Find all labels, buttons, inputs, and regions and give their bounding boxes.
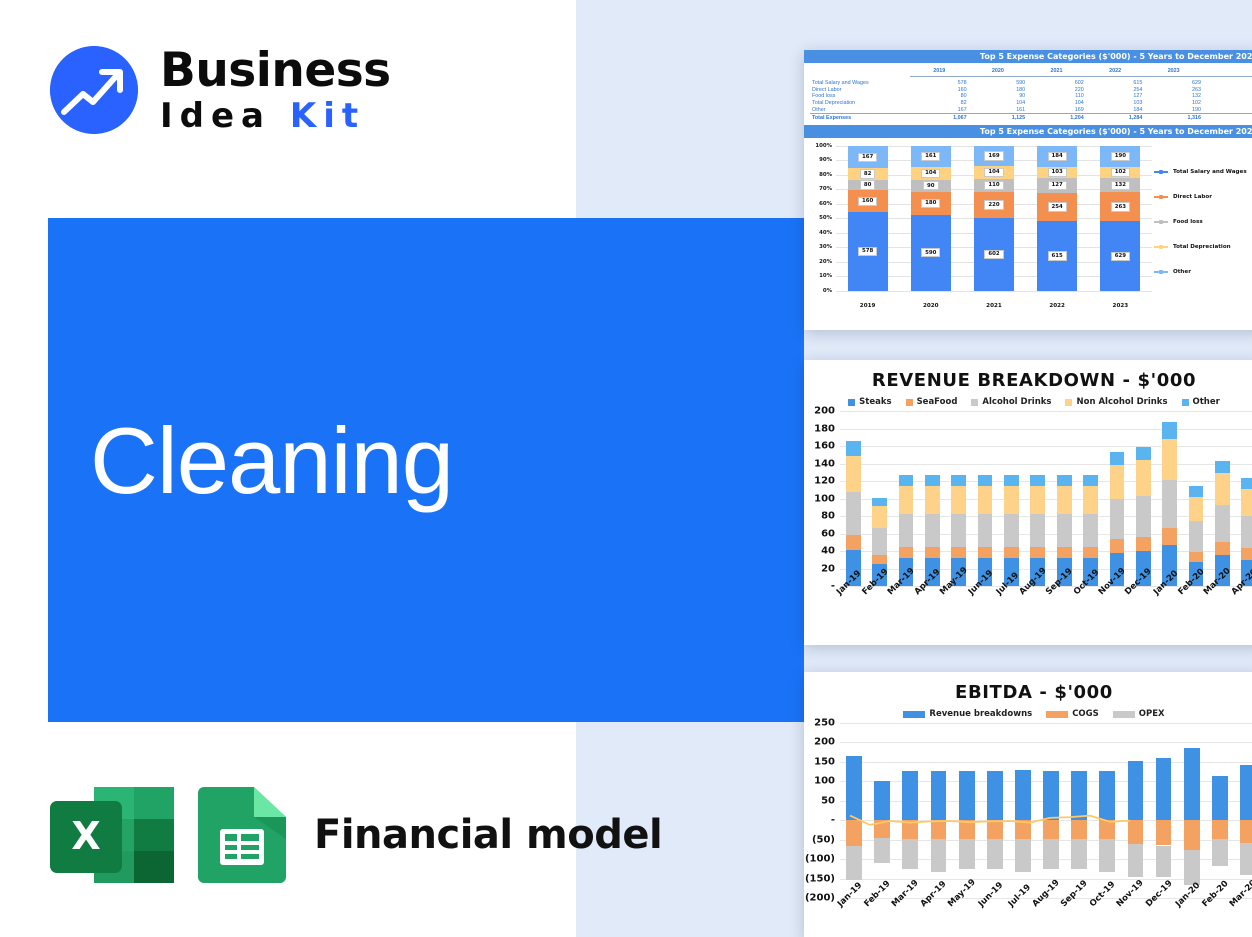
bar-column (946, 411, 972, 586)
bar-column: 190102132263629 (1100, 146, 1140, 291)
bar-segment (1110, 452, 1125, 465)
legend-swatch (1154, 196, 1168, 198)
bar-segment (1215, 473, 1230, 505)
bar-value-label: 82 (860, 169, 876, 178)
bar-value-label: 103 (1048, 168, 1067, 177)
expense-col-header: 2019 (910, 67, 969, 77)
x-tick: Aug-19 (1037, 900, 1065, 936)
expense-cell: 110 (1027, 93, 1086, 100)
bar-segment (951, 486, 966, 514)
bar-segment: 629 (1100, 221, 1140, 290)
bar-segment (1241, 548, 1252, 559)
bar-segment (1215, 461, 1230, 473)
expense-total-cell: 1,204 (1027, 114, 1086, 122)
bar-value-label: 615 (1048, 251, 1067, 260)
table-row: Direct Labor160180220254263 (810, 86, 1252, 93)
bar-column (1121, 723, 1149, 898)
bar-segment (1099, 771, 1115, 820)
bar-column (896, 723, 924, 898)
bar-segment (1136, 496, 1151, 537)
bar-segment (1156, 846, 1172, 878)
x-tick: Dec-19 (1130, 588, 1156, 624)
bar-column (1130, 411, 1156, 586)
bar-segment (846, 456, 861, 493)
bar-segment: 82 (848, 168, 888, 179)
bar-column (1157, 411, 1183, 586)
bar-segment: 254 (1037, 193, 1077, 222)
bar-segment (1128, 761, 1144, 821)
expense-chart-y-axis: 0%10%20%30%40%50%60%70%80%90%100% (804, 146, 834, 291)
revenue-chart-title: REVENUE BREAKDOWN - $'000 (804, 370, 1252, 391)
x-tick: Nov-19 (1121, 900, 1149, 936)
y-tick-label: 10% (819, 273, 832, 279)
y-tick-label: - (831, 815, 835, 826)
bar-segment (1189, 486, 1204, 497)
x-tick: Feb-19 (868, 900, 896, 936)
bar-segment (1212, 776, 1228, 820)
bar-segment (1184, 748, 1200, 821)
x-tick: Jun-19 (972, 588, 998, 624)
bar-segment (959, 771, 975, 820)
bar-segment (1128, 820, 1144, 844)
legend-item[interactable]: Food loss (1154, 210, 1252, 235)
bar-segment (899, 475, 914, 486)
bar-segment (1004, 514, 1019, 546)
bar-segment (874, 781, 890, 820)
slide-root: Business Idea Kit Cleaning X (0, 0, 1252, 937)
bar-segment (1136, 537, 1151, 551)
bar-value-label: 263 (1111, 202, 1130, 211)
legend-swatch (1046, 711, 1068, 718)
y-tick-label: 200 (814, 406, 835, 417)
expense-col-header: 2020 (969, 67, 1028, 77)
bar-segment: 190 (1100, 146, 1140, 167)
y-tick-label: 100 (814, 493, 835, 504)
y-tick-label: 80% (819, 172, 832, 178)
x-tick: Mar-20 (1209, 588, 1235, 624)
expense-total-cell: 1,067 (910, 114, 969, 122)
bar-column (1209, 411, 1235, 586)
x-tick: Mar-20 (1234, 900, 1252, 936)
bar-value-label: 127 (1048, 181, 1067, 190)
y-tick-label: (50) (812, 834, 835, 845)
legend-label: COGS (1072, 709, 1099, 719)
legend-swatch (1154, 246, 1168, 248)
expense-chart-card: Top 5 Expense Categories ($'000) - 5 Yea… (804, 50, 1252, 330)
bar-segment (902, 820, 918, 839)
x-tick: Jul-19 (1009, 900, 1037, 936)
expense-row-label: Total Salary and Wages (810, 80, 910, 87)
bar-value-label: 102 (1111, 168, 1130, 177)
bar-segment (1057, 486, 1072, 514)
bar-value-label: 254 (1048, 202, 1067, 211)
bar-segment (1162, 528, 1177, 545)
expense-row-label: Food loss (810, 93, 910, 100)
bar-column (1234, 723, 1252, 898)
bar-column: 1678280160578 (848, 146, 888, 291)
bar-column (840, 723, 868, 898)
expense-chart-x-axis: 20192020202120222023 (836, 303, 1152, 309)
bar-segment (902, 771, 918, 820)
bar-column (972, 411, 998, 586)
expense-chart-plot: 1678280160578161104901805901691041102206… (836, 146, 1152, 291)
bar-segment (1004, 475, 1019, 486)
bar-value-label: 629 (1111, 252, 1130, 261)
legend-item[interactable]: Steaks (848, 397, 891, 407)
x-tick: Jan-19 (840, 588, 866, 624)
bar-segment: 184 (1037, 146, 1077, 167)
bar-segment (1030, 475, 1045, 486)
bar-segment (1099, 820, 1115, 839)
bar-segment: 160 (848, 190, 888, 212)
x-tick-label: 2022 (1037, 303, 1077, 309)
bar-segment (1015, 820, 1031, 839)
bar-segment (951, 475, 966, 486)
x-tick: Jan-19 (840, 900, 868, 936)
bar-segment: 80 (848, 180, 888, 191)
legend-swatch (1154, 171, 1168, 173)
x-tick: Jun-19 (981, 900, 1009, 936)
y-tick-label: 120 (814, 476, 835, 487)
table-row: Total Depreciation82104104103102 (810, 100, 1252, 107)
ebitda-chart-x-axis: Jan-19Feb-19Mar-19Apr-19May-19Jun-19Jul-… (840, 900, 1252, 936)
bar-segment (846, 756, 862, 821)
expense-col-header: 2022 (1086, 67, 1145, 77)
ebitda-chart-legend: Revenue breakdownsCOGSOPEX (804, 709, 1252, 719)
legend-item[interactable]: OPEX (1113, 709, 1165, 719)
x-tick-label: 2019 (848, 303, 888, 309)
legend-swatch (903, 711, 925, 718)
bar-value-label: 90 (923, 181, 939, 190)
bar-segment (1057, 514, 1072, 546)
expense-cell: 180 (969, 86, 1028, 93)
revenue-chart-plot: -20406080100120140160180200 (804, 411, 1252, 586)
legend-swatch (1113, 711, 1135, 718)
bar-segment (1083, 486, 1098, 514)
bar-segment (1212, 820, 1228, 839)
bar-segment (978, 514, 993, 546)
bar-segment: 220 (974, 192, 1014, 218)
legend-swatch (1182, 399, 1189, 406)
ebitda-chart-card: EBITDA - $'000 Revenue breakdownsCOGSOPE… (804, 672, 1252, 937)
expense-table-wrap: 20192020202120222023 Total Salary and Wa… (804, 67, 1252, 122)
expense-cell: 590 (969, 80, 1028, 87)
expense-cell: 161 (969, 107, 1028, 114)
bar-column: 184103127254615 (1037, 146, 1077, 291)
bar-segment (899, 547, 914, 558)
bar-segment (1043, 820, 1059, 839)
y-tick-label: 20% (819, 259, 832, 265)
bar-value-label: 602 (984, 250, 1003, 259)
bar-segment: 103 (1037, 167, 1077, 179)
bar-segment (1030, 547, 1045, 558)
bar-segment: 110 (974, 179, 1014, 192)
bar-segment (951, 547, 966, 558)
brand-kit-word: Kit (290, 96, 365, 136)
bar-segment (1015, 839, 1031, 872)
x-tick: May-19 (953, 900, 981, 936)
expense-cell: 160 (910, 86, 969, 93)
bar-column (1150, 723, 1178, 898)
bar-segment: 161 (911, 146, 951, 167)
bar-segment (1162, 439, 1177, 480)
bar-segment (931, 771, 947, 820)
ebitda-chart-bars (840, 723, 1252, 898)
bar-segment (1189, 521, 1204, 552)
bar-value-label: 169 (984, 151, 1003, 160)
bar-column (1065, 723, 1093, 898)
bar-segment (1184, 850, 1200, 885)
bar-segment (1215, 542, 1230, 555)
y-tick-label: 180 (814, 423, 835, 434)
legend-item[interactable]: COGS (1046, 709, 1099, 719)
bar-column (893, 411, 919, 586)
expense-row-label: Direct Labor (810, 86, 910, 93)
expense-table: 20192020202120222023 Total Salary and Wa… (810, 67, 1252, 122)
bar-column (1178, 723, 1206, 898)
bar-segment (1004, 486, 1019, 514)
y-tick-label: 50 (821, 795, 835, 806)
legend-item[interactable]: Alcohol Drinks (971, 397, 1051, 407)
x-tick: May-19 (946, 588, 972, 624)
bar-column (1037, 723, 1065, 898)
expense-cell: 169 (1027, 107, 1086, 114)
bar-segment: 263 (1100, 192, 1140, 221)
x-tick: Dec-19 (1150, 900, 1178, 936)
bar-column (840, 411, 866, 586)
hero-panel: Cleaning (48, 218, 804, 722)
bar-segment (1083, 514, 1098, 546)
x-tick: Apr-19 (924, 900, 952, 936)
bar-value-label: 132 (1111, 181, 1130, 190)
y-tick-label: 40 (821, 546, 835, 557)
y-tick-label: (100) (805, 854, 835, 865)
expense-cell: 629 (1144, 80, 1203, 87)
bar-segment (874, 838, 890, 864)
bar-segment (987, 771, 1003, 820)
legend-label: Revenue breakdowns (929, 709, 1032, 719)
legend-label: Direct Labor (1173, 194, 1212, 200)
expense-cell: 190 (1144, 107, 1203, 114)
table-row: Other167161169184190 (810, 107, 1252, 114)
ebitda-chart-title: EBITDA - $'000 (804, 682, 1252, 703)
bar-segment (874, 820, 890, 838)
expense-chart-bars: 1678280160578161104901805901691041102206… (836, 146, 1152, 291)
expense-cell: 263 (1144, 86, 1203, 93)
bar-segment (1156, 820, 1172, 845)
expense-cell: 602 (1027, 80, 1086, 87)
bar-column (1093, 723, 1121, 898)
y-tick-label: 40% (819, 230, 832, 236)
bar-segment (1030, 486, 1045, 514)
bar-column (924, 723, 952, 898)
legend-label: Other (1193, 397, 1220, 407)
bar-column (1051, 411, 1077, 586)
bar-column (1236, 411, 1252, 586)
legend-label: Total Depreciation (1173, 244, 1231, 250)
google-sheets-icon (198, 787, 286, 883)
bar-segment (899, 486, 914, 514)
bar-segment (846, 846, 862, 880)
legend-item[interactable]: Other (1182, 397, 1220, 407)
microsoft-excel-icon: X (50, 787, 174, 883)
bar-segment (978, 486, 993, 514)
expense-col-header: 2021 (1027, 67, 1086, 77)
legend-item[interactable]: Direct Labor (1154, 185, 1252, 210)
bar-column (1104, 411, 1130, 586)
legend-label: Total Salary and Wages (1173, 169, 1247, 175)
expense-cell: 184 (1086, 107, 1145, 114)
bar-segment (925, 547, 940, 558)
bar-column (1206, 723, 1234, 898)
bar-segment (1136, 460, 1151, 496)
y-tick-label: 150 (814, 756, 835, 767)
y-tick-label: 250 (814, 718, 835, 729)
bar-segment (872, 506, 887, 528)
expense-row-label: Other (810, 107, 910, 114)
expense-cell: 615 (1086, 80, 1145, 87)
bar-segment (959, 839, 975, 869)
bar-segment (1184, 820, 1200, 850)
y-tick-label: 160 (814, 441, 835, 452)
financial-model-label: Financial model (314, 812, 662, 858)
x-tick: Sep-19 (1065, 900, 1093, 936)
bar-segment (902, 839, 918, 869)
bar-segment (1110, 539, 1125, 553)
expense-table-body: Total Salary and Wages578590602615629Dir… (810, 77, 1252, 122)
expense-chart-legend: Total Salary and WagesDirect LaborFood l… (1154, 160, 1252, 285)
bar-value-label: 190 (1111, 152, 1130, 161)
bar-segment (1240, 765, 1252, 821)
bar-segment: 578 (848, 212, 888, 291)
expense-cell: 132 (1144, 93, 1203, 100)
expense-cell: 82 (910, 100, 969, 107)
bar-segment (1083, 547, 1098, 558)
y-tick-label: 70% (819, 186, 832, 192)
bar-segment (1043, 839, 1059, 869)
expense-cell: 167 (910, 107, 969, 114)
expense-total-cell: 1,125 (969, 114, 1028, 122)
bar-segment (1215, 505, 1230, 543)
bar-value-label: 180 (921, 199, 940, 208)
legend-item[interactable]: Total Salary and Wages (1154, 160, 1252, 185)
expense-row-label: Total Depreciation (810, 100, 910, 107)
brand-name-primary: Business (160, 47, 391, 94)
bar-segment (931, 839, 947, 872)
bar-segment (987, 820, 1003, 839)
bar-column (1009, 723, 1037, 898)
expense-cell: 103 (1086, 100, 1145, 107)
bar-segment: 169 (974, 146, 1014, 166)
x-tick: Apr-20 (1236, 588, 1252, 624)
expense-cell: 220 (1027, 86, 1086, 93)
bar-segment (1071, 839, 1087, 869)
legend-label: SeaFood (917, 397, 958, 407)
legend-item[interactable]: Other (1154, 260, 1252, 285)
bar-segment (978, 547, 993, 558)
bar-segment (846, 492, 861, 535)
bar-column (1025, 411, 1051, 586)
expense-cell: 90 (969, 93, 1028, 100)
bar-segment (1240, 820, 1252, 843)
legend-item[interactable]: SeaFood (906, 397, 958, 407)
expense-cell: 104 (1027, 100, 1086, 107)
legend-label: Steaks (859, 397, 891, 407)
format-footer: X Financial model (50, 787, 662, 883)
bar-segment: 590 (911, 215, 951, 291)
ebitda-chart-y-axis: (200)(150)(100)(50)-50100150200250 (804, 723, 838, 898)
expense-stacked-percent-chart: 0%10%20%30%40%50%60%70%80%90%100% 167828… (804, 138, 1252, 313)
y-tick-label: (150) (805, 873, 835, 884)
x-tick-label: 2020 (911, 303, 951, 309)
page-title: Cleaning (90, 414, 453, 508)
expense-cell: 254 (1086, 86, 1145, 93)
bar-column (919, 411, 945, 586)
bar-segment (1240, 843, 1252, 876)
legend-label: OPEX (1139, 709, 1165, 719)
legend-swatch (1154, 221, 1168, 223)
bar-column (1183, 411, 1209, 586)
expense-col-header-partial (1203, 67, 1252, 77)
bar-segment (1043, 771, 1059, 820)
brand-idea-word: Idea (160, 96, 271, 136)
bar-segment (846, 441, 861, 456)
expense-table-banner: Top 5 Expense Categories ($'000) - 5 Yea… (804, 50, 1252, 63)
legend-item[interactable]: Non Alcohol Drinks (1065, 397, 1167, 407)
bar-column (981, 723, 1009, 898)
expense-total-label: Total Expenses (810, 114, 910, 122)
expense-total-cell: 1,316 (1144, 114, 1203, 122)
bar-segment (1110, 465, 1125, 499)
bar-column: 169104110220602 (974, 146, 1014, 291)
bar-segment (959, 820, 975, 839)
x-tick: Feb-20 (1206, 900, 1234, 936)
bar-segment: 180 (911, 192, 951, 215)
y-tick-label: 50% (819, 215, 832, 221)
legend-swatch (1065, 399, 1072, 406)
bar-segment: 127 (1037, 178, 1077, 192)
bar-segment (1071, 771, 1087, 820)
revenue-chart-y-axis: -20406080100120140160180200 (804, 411, 838, 586)
bar-segment (925, 486, 940, 514)
bar-segment (1189, 552, 1204, 562)
legend-item[interactable]: Total Depreciation (1154, 235, 1252, 260)
bar-segment (1241, 489, 1252, 516)
bar-segment (846, 535, 861, 550)
x-tick-label: 2023 (1100, 303, 1140, 309)
legend-item[interactable]: Revenue breakdowns (903, 709, 1032, 719)
bar-segment (1156, 758, 1172, 820)
legend-swatch (906, 399, 913, 406)
bar-segment (899, 514, 914, 546)
revenue-chart-card: REVENUE BREAKDOWN - $'000 SteaksSeaFoodA… (804, 360, 1252, 645)
bar-segment (1128, 844, 1144, 877)
expense-col-header: 2023 (1144, 67, 1203, 77)
legend-swatch (848, 399, 855, 406)
expense-chart-banner: Top 5 Expense Categories ($'000) - 5 Yea… (804, 125, 1252, 138)
x-tick: Sep-19 (1051, 588, 1077, 624)
revenue-chart-x-axis: Jan-19Feb-19Mar-19Apr-19May-19Jun-19Jul-… (840, 588, 1252, 624)
y-tick-label: 100% (815, 143, 832, 149)
bar-segment (1241, 516, 1252, 548)
expense-cell: 104 (969, 100, 1028, 107)
bar-value-label: 578 (858, 247, 877, 256)
bar-segment: 167 (848, 146, 888, 169)
bar-segment (872, 555, 887, 565)
revenue-chart-legend: SteaksSeaFoodAlcohol DrinksNon Alcohol D… (804, 397, 1252, 407)
bar-value-label: 590 (921, 248, 940, 257)
bar-segment (1057, 475, 1072, 486)
